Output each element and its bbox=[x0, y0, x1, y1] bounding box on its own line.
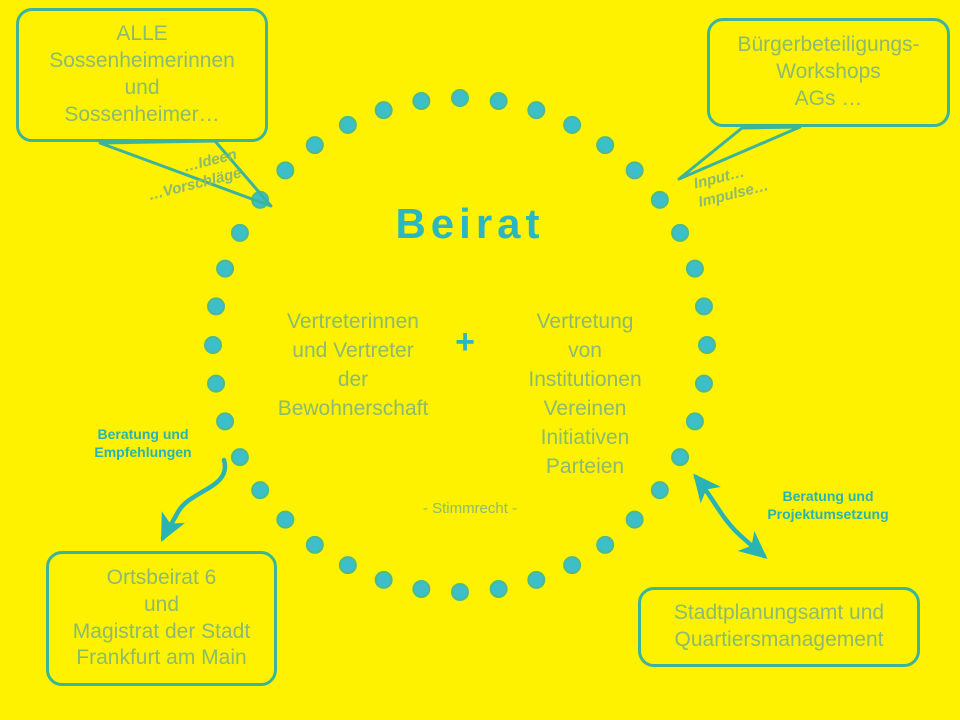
ring-dot bbox=[232, 225, 248, 241]
center-column-bewohnerschaft: Vertreterinnen und Vertreter der Bewohne… bbox=[268, 308, 438, 424]
ring-dot bbox=[376, 572, 392, 588]
ring-dot bbox=[277, 512, 293, 528]
ring-dot bbox=[687, 261, 703, 277]
center-title-beirat: Beirat bbox=[330, 200, 610, 248]
ring-dot bbox=[597, 137, 613, 153]
ring-dot bbox=[696, 376, 712, 392]
bubble-alle-sossenheimer[interactable]: ALLE Sossenheimerinnen und Sossenheimer… bbox=[16, 8, 268, 142]
ring-dot bbox=[452, 584, 468, 600]
ring-dot bbox=[564, 557, 580, 573]
ring-dot bbox=[376, 102, 392, 118]
ring-dot bbox=[672, 225, 688, 241]
ring-dot bbox=[277, 162, 293, 178]
bubble-buerger-text: Bürgerbeteiligungs- Workshops AGs … bbox=[737, 32, 919, 113]
center-column-institutionen: Vertretung von Institutionen Vereinen In… bbox=[500, 308, 670, 482]
ring-dot bbox=[252, 192, 268, 208]
tail-label-input-impulse: Input… Impulse… bbox=[692, 147, 818, 212]
tail-label-ideen-vorschlaege: …Ideen …Vorschläge bbox=[118, 146, 244, 211]
ring-dot bbox=[627, 162, 643, 178]
ring-dot bbox=[672, 449, 688, 465]
ring-dot bbox=[208, 298, 224, 314]
plus-icon: + bbox=[440, 325, 490, 359]
bubble-stadtplanungsamt[interactable]: Stadtplanungsamt und Quartiersmanagement bbox=[638, 587, 920, 667]
arrow-label-beratung-empfehlungen: Beratung und Empfehlungen bbox=[77, 425, 209, 462]
bubble-ortsbeirat-text: Ortsbeirat 6 und Magistrat der Stadt Fra… bbox=[73, 565, 250, 673]
ring-dot bbox=[528, 102, 544, 118]
ring-dot bbox=[491, 93, 507, 109]
ring-dot bbox=[217, 261, 233, 277]
center-footnote-stimmrecht: - Stimmrecht - bbox=[370, 500, 570, 517]
ring-dot bbox=[652, 482, 668, 498]
ring-dot bbox=[687, 413, 703, 429]
ring-dot bbox=[652, 192, 668, 208]
ring-dot bbox=[307, 137, 323, 153]
ring-dot bbox=[205, 337, 221, 353]
arrow-label-beratung-projektumsetzung: Beratung und Projektumsetzung bbox=[748, 487, 908, 524]
ring-dot bbox=[340, 117, 356, 133]
ring-dot bbox=[208, 376, 224, 392]
diagram-canvas: ALLE Sossenheimerinnen und Sossenheimer…… bbox=[0, 0, 960, 720]
bubble-buergerbeteiligung[interactable]: Bürgerbeteiligungs- Workshops AGs … bbox=[707, 18, 950, 127]
bubble-ortsbeirat-magistrat[interactable]: Ortsbeirat 6 und Magistrat der Stadt Fra… bbox=[46, 551, 277, 686]
ring-dot bbox=[452, 90, 468, 106]
ring-dot bbox=[696, 298, 712, 314]
ring-dot bbox=[627, 512, 643, 528]
ring-dot bbox=[413, 581, 429, 597]
ring-dot bbox=[564, 117, 580, 133]
ring-dot bbox=[491, 581, 507, 597]
ring-dot bbox=[307, 537, 323, 553]
ring-dot bbox=[528, 572, 544, 588]
ring-dot bbox=[232, 449, 248, 465]
bubble-stadtplanung-text: Stadtplanungsamt und Quartiersmanagement bbox=[674, 600, 884, 654]
ring-dot bbox=[340, 557, 356, 573]
ring-dot bbox=[252, 482, 268, 498]
arrow-beratung-empfehlungen bbox=[163, 460, 225, 538]
ring-dot bbox=[413, 93, 429, 109]
bubble-alle-text: ALLE Sossenheimerinnen und Sossenheimer… bbox=[49, 21, 235, 129]
ring-dot bbox=[217, 413, 233, 429]
ring-dot bbox=[597, 537, 613, 553]
ring-dot bbox=[699, 337, 715, 353]
